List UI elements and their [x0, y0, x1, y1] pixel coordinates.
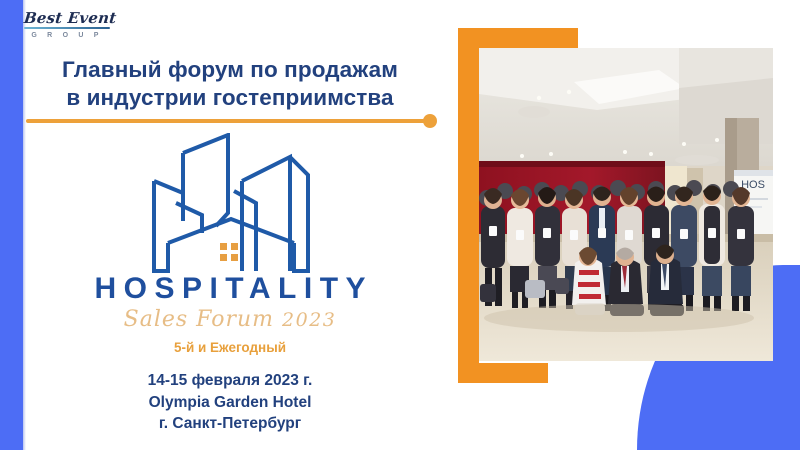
best-event-group-logo: Best Event G R O U P: [24, 10, 116, 46]
hospitality-wordmark: HOSPITALITY: [25, 272, 435, 306]
event-venue: Olympia Garden Hotel: [25, 392, 435, 414]
sales-forum-text: Sales Forum: [124, 307, 274, 332]
page-title: Главный форум по продажам в индустрии го…: [30, 56, 430, 112]
poster-canvas: Best Event G R O U P Главный форум по пр…: [0, 0, 800, 450]
orange-frame-top: [458, 28, 578, 48]
page-title-line-1: Главный форум по продажам: [62, 57, 398, 82]
left-blue-bar: [0, 0, 23, 450]
hospitality-building-icon: [150, 133, 312, 275]
brand-subtitle: G R O U P: [24, 32, 110, 39]
group-photo: HOS: [479, 48, 773, 361]
orange-frame-bottom: [458, 363, 548, 383]
event-details: 14-15 февраля 2023 г. Olympia Garden Hot…: [25, 370, 435, 435]
sales-forum-script: Sales Forum2023: [25, 307, 435, 333]
event-date: 14-15 февраля 2023 г.: [25, 370, 435, 392]
brand-wordmark: Best Event: [23, 10, 117, 26]
brand-underline-icon: [24, 27, 110, 29]
edition-tagline: 5-й и Ежегодный: [25, 339, 435, 357]
orange-divider: [26, 119, 430, 123]
event-city: г. Санкт-Петербург: [25, 413, 435, 435]
page-title-line-2: в индустрии гостеприимства: [30, 84, 430, 112]
sales-forum-year: 2023: [282, 309, 336, 331]
orange-dot-icon: [423, 114, 437, 128]
